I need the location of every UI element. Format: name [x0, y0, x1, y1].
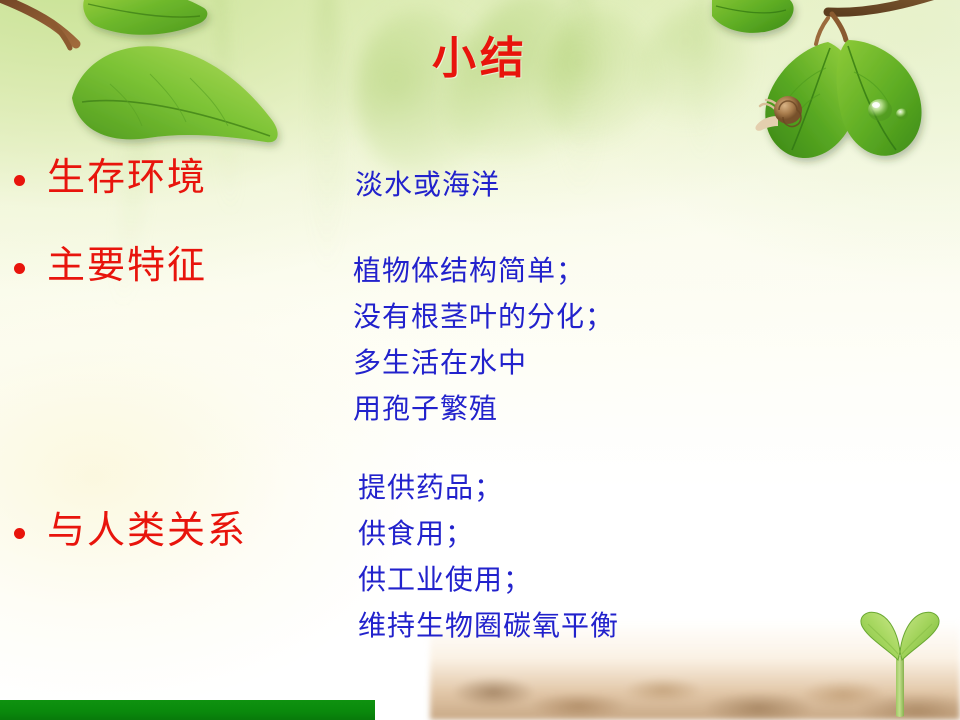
bullet-row-human-relation: 与人类关系 — [14, 508, 247, 554]
detail-block-main-features: 植物体结构简单； 没有根茎叶的分化； 多生活在水中 用孢子繁殖 — [353, 249, 614, 433]
detail-block-human-relation: 提供药品； 供食用； 供工业使用； 维持生物圈碳氧平衡 — [358, 466, 619, 650]
slide-canvas: 小结 生存环境 淡水或海洋 主要特征 植物体结构简单； 没有根茎叶的分化； 多生… — [0, 0, 960, 720]
bullet-dot-icon — [14, 175, 25, 186]
bullet-dot-icon — [14, 263, 25, 274]
detail-block-living-environment: 淡水或海洋 — [355, 163, 500, 209]
detail-line: 淡水或海洋 — [355, 163, 500, 209]
slide-title: 小结 — [0, 22, 960, 86]
detail-line: 供食用； — [358, 512, 619, 558]
detail-line: 供工业使用； — [358, 558, 619, 604]
detail-line: 维持生物圈碳氧平衡 — [358, 604, 619, 650]
dewdrop-small-icon — [896, 109, 908, 120]
detail-line: 多生活在水中 — [353, 341, 614, 387]
bullet-dot-icon — [14, 528, 25, 539]
dewdrop-large-icon — [868, 99, 892, 121]
bottom-accent-bar — [0, 700, 375, 720]
detail-line: 没有根茎叶的分化； — [353, 295, 614, 341]
detail-line: 植物体结构简单； — [353, 249, 614, 295]
bullet-row-living-environment: 生存环境 — [14, 155, 207, 201]
section-heading: 生存环境 — [47, 155, 207, 201]
section-heading: 主要特征 — [47, 243, 207, 289]
detail-line: 用孢子繁殖 — [353, 387, 614, 433]
detail-line: 提供药品； — [358, 466, 619, 512]
seedling-sprout-icon — [852, 604, 948, 720]
section-heading: 与人类关系 — [47, 508, 247, 554]
bullet-row-main-features: 主要特征 — [14, 243, 207, 289]
